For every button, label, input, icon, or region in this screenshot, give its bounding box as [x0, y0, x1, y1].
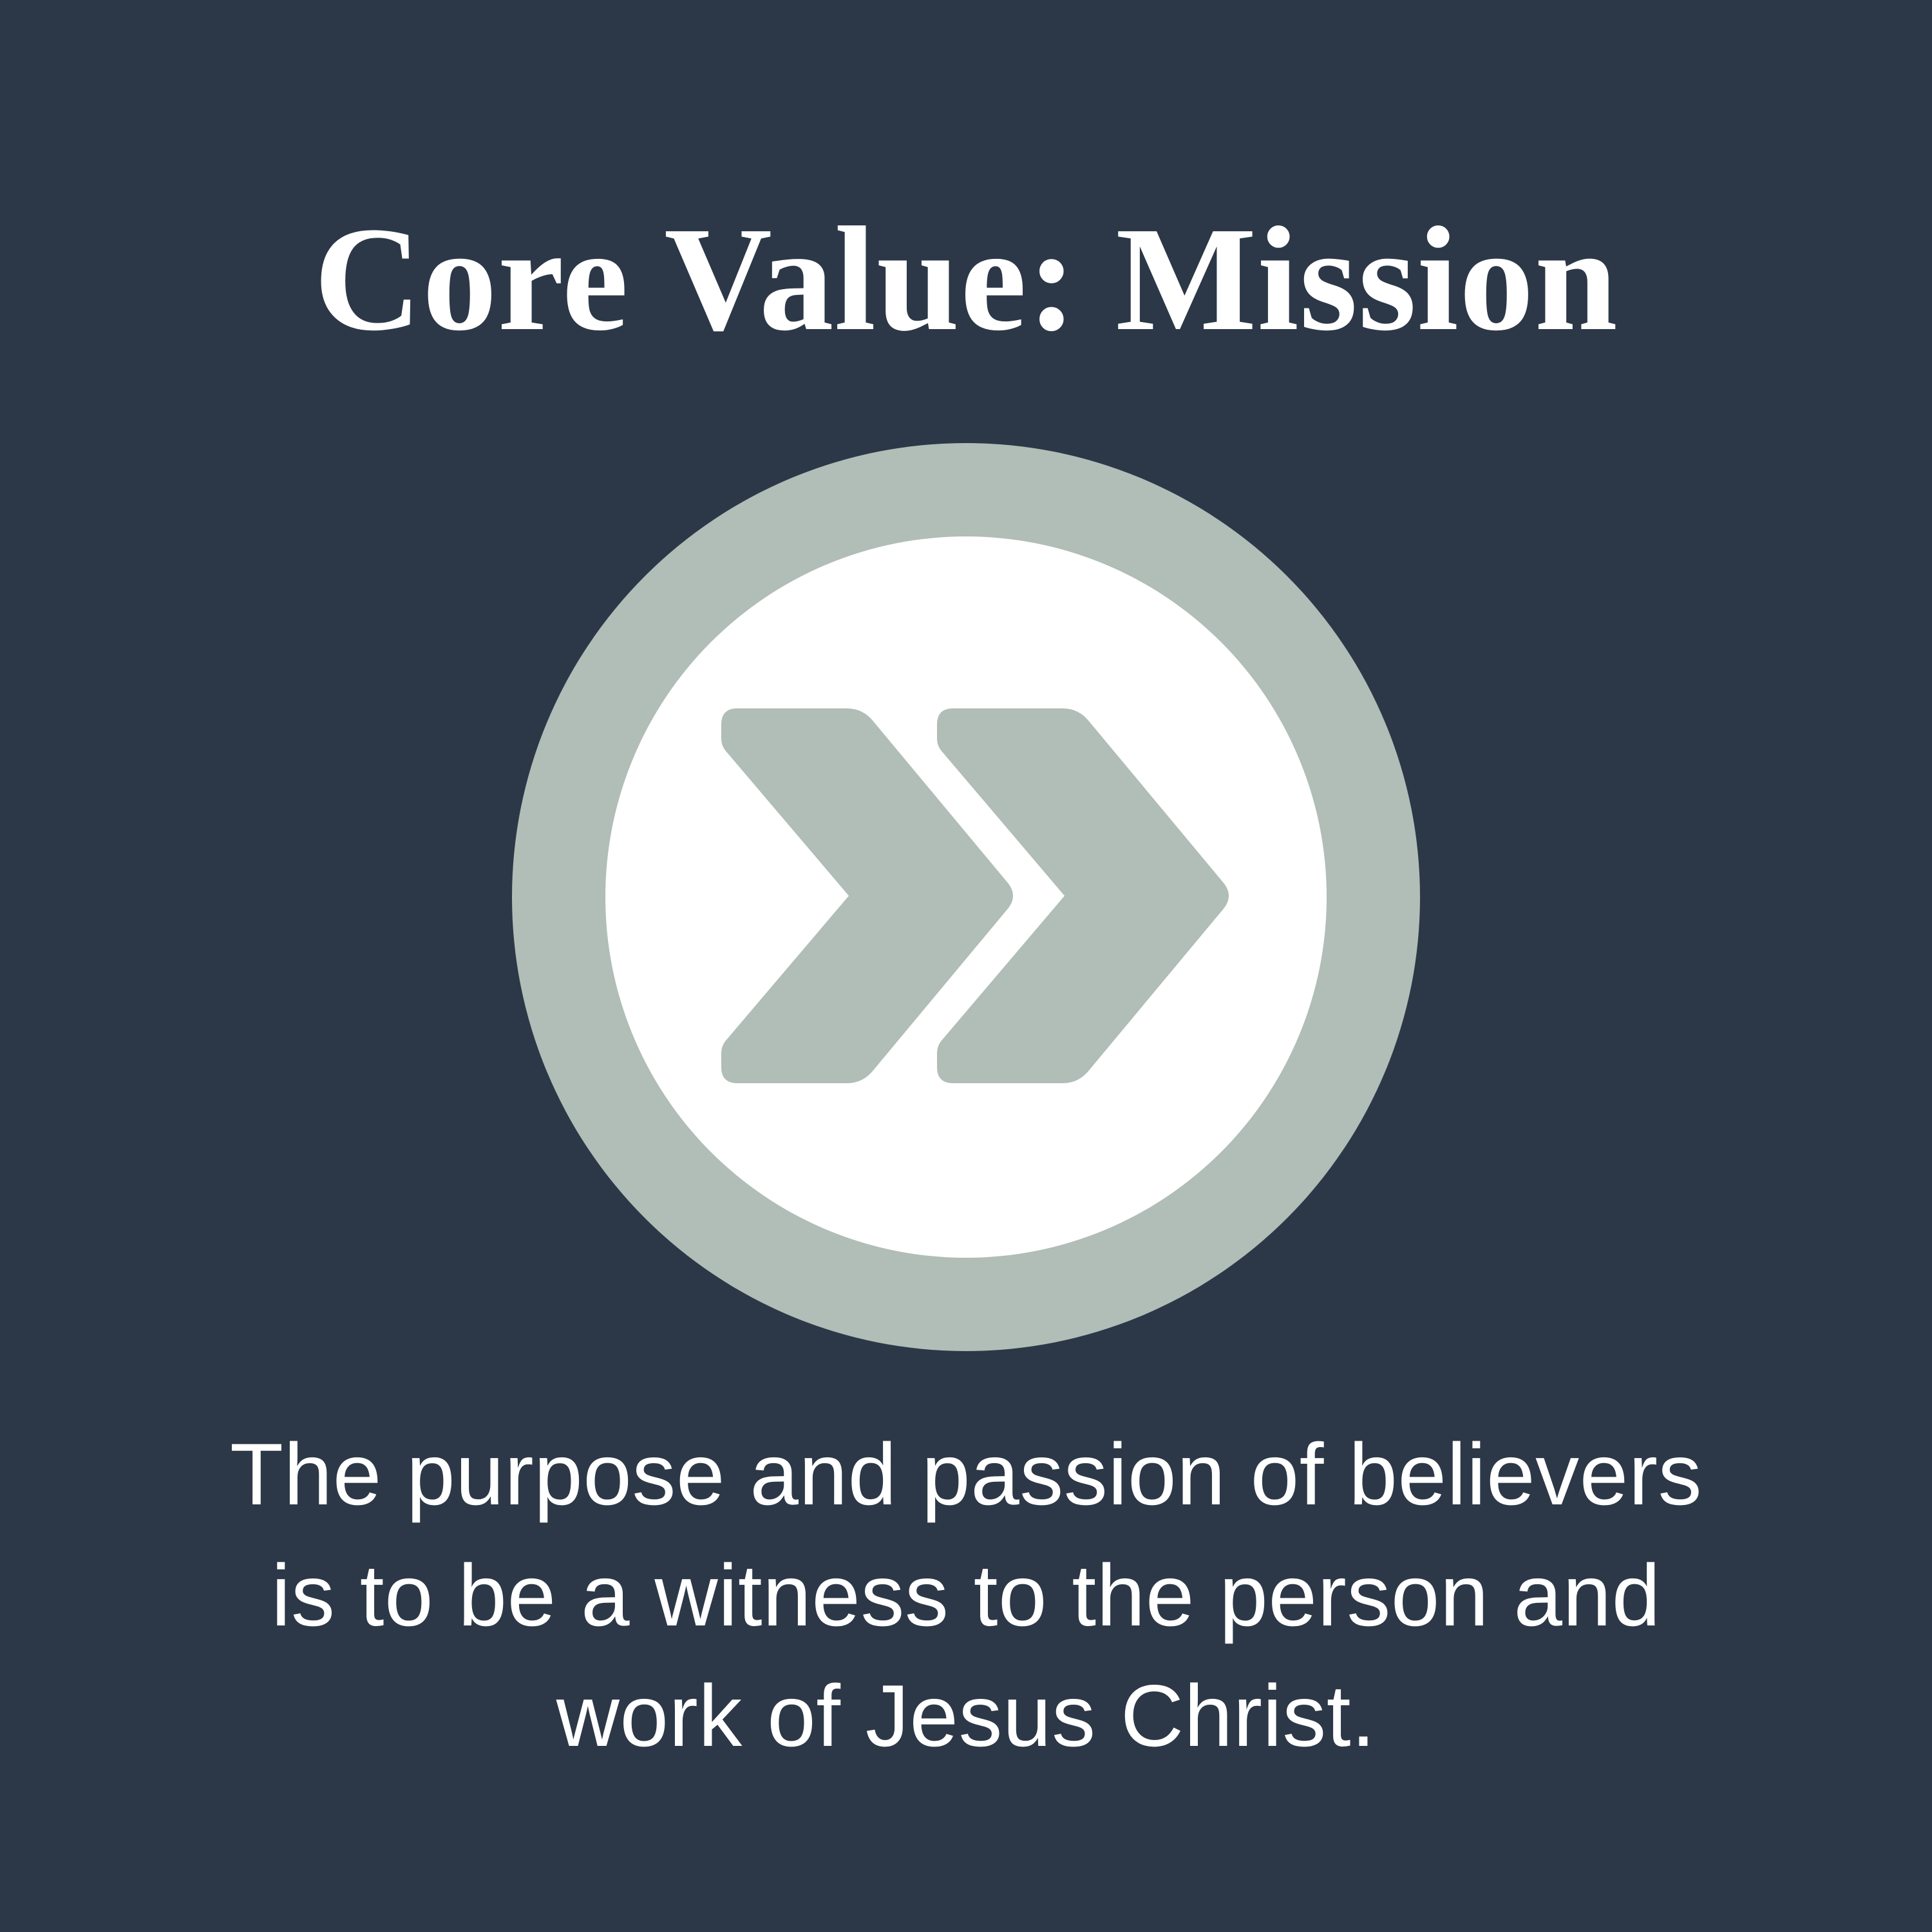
description-line-3: work of Jesus Christ.	[148, 1656, 1784, 1777]
description-line-1: The purpose and passion of believers	[148, 1414, 1784, 1535]
page-title: Core Value: Mission	[0, 205, 1932, 354]
double-chevron-right-icon	[512, 443, 1420, 1351]
chevron-glyph	[512, 443, 1420, 1351]
core-value-card: Core Value: Mission The purpose and pass…	[0, 0, 1932, 1932]
description-line-2: is to be a witness to the person and	[148, 1535, 1784, 1656]
description-text: The purpose and passion of believers is …	[148, 1414, 1784, 1777]
